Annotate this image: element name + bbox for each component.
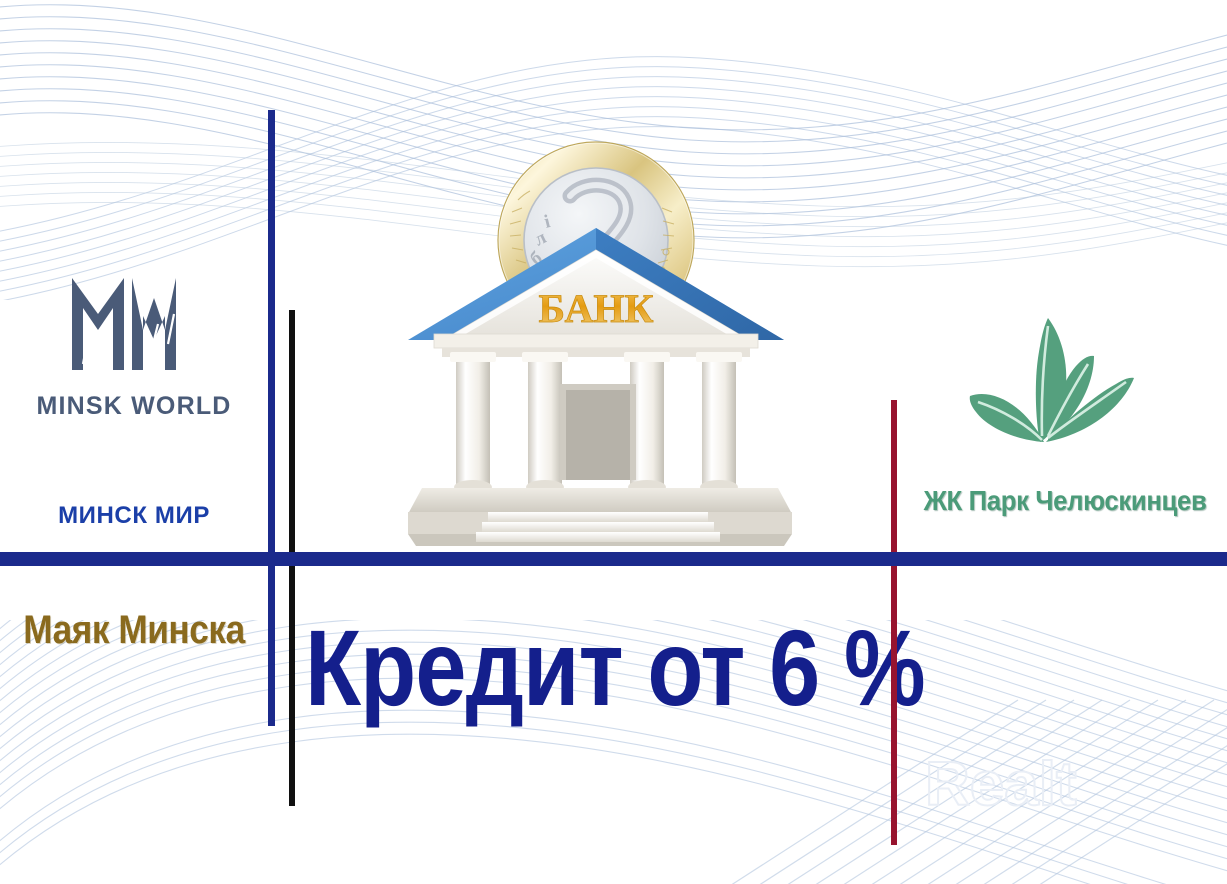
bank-pediment-label: БАНК [539, 286, 654, 331]
park-chelyuskintsev-name: ЖК Парк Челюскинцев [918, 485, 1212, 517]
minsk-world-latin-name: MINSK WORLD [14, 392, 254, 421]
realt-watermark: Realt [925, 753, 1195, 819]
green-leaf-icon [948, 312, 1148, 462]
divider-vertical-red [891, 400, 897, 845]
minsk-world-cyrillic-name: МИНСК МИР [14, 502, 254, 530]
mayak-minska-name: Маяк Минска [23, 608, 245, 653]
divider-horizontal-blue [0, 552, 1227, 566]
watermark-text: Realt [925, 753, 1077, 819]
page-title: Кредит от 6 % [305, 614, 807, 722]
mw-monogram-icon [62, 268, 192, 380]
bank-building-icon: р у б л i БАНК [400, 100, 800, 552]
promo-banner: р у б л i БАНК [0, 0, 1227, 884]
divider-vertical-blue [268, 110, 275, 726]
